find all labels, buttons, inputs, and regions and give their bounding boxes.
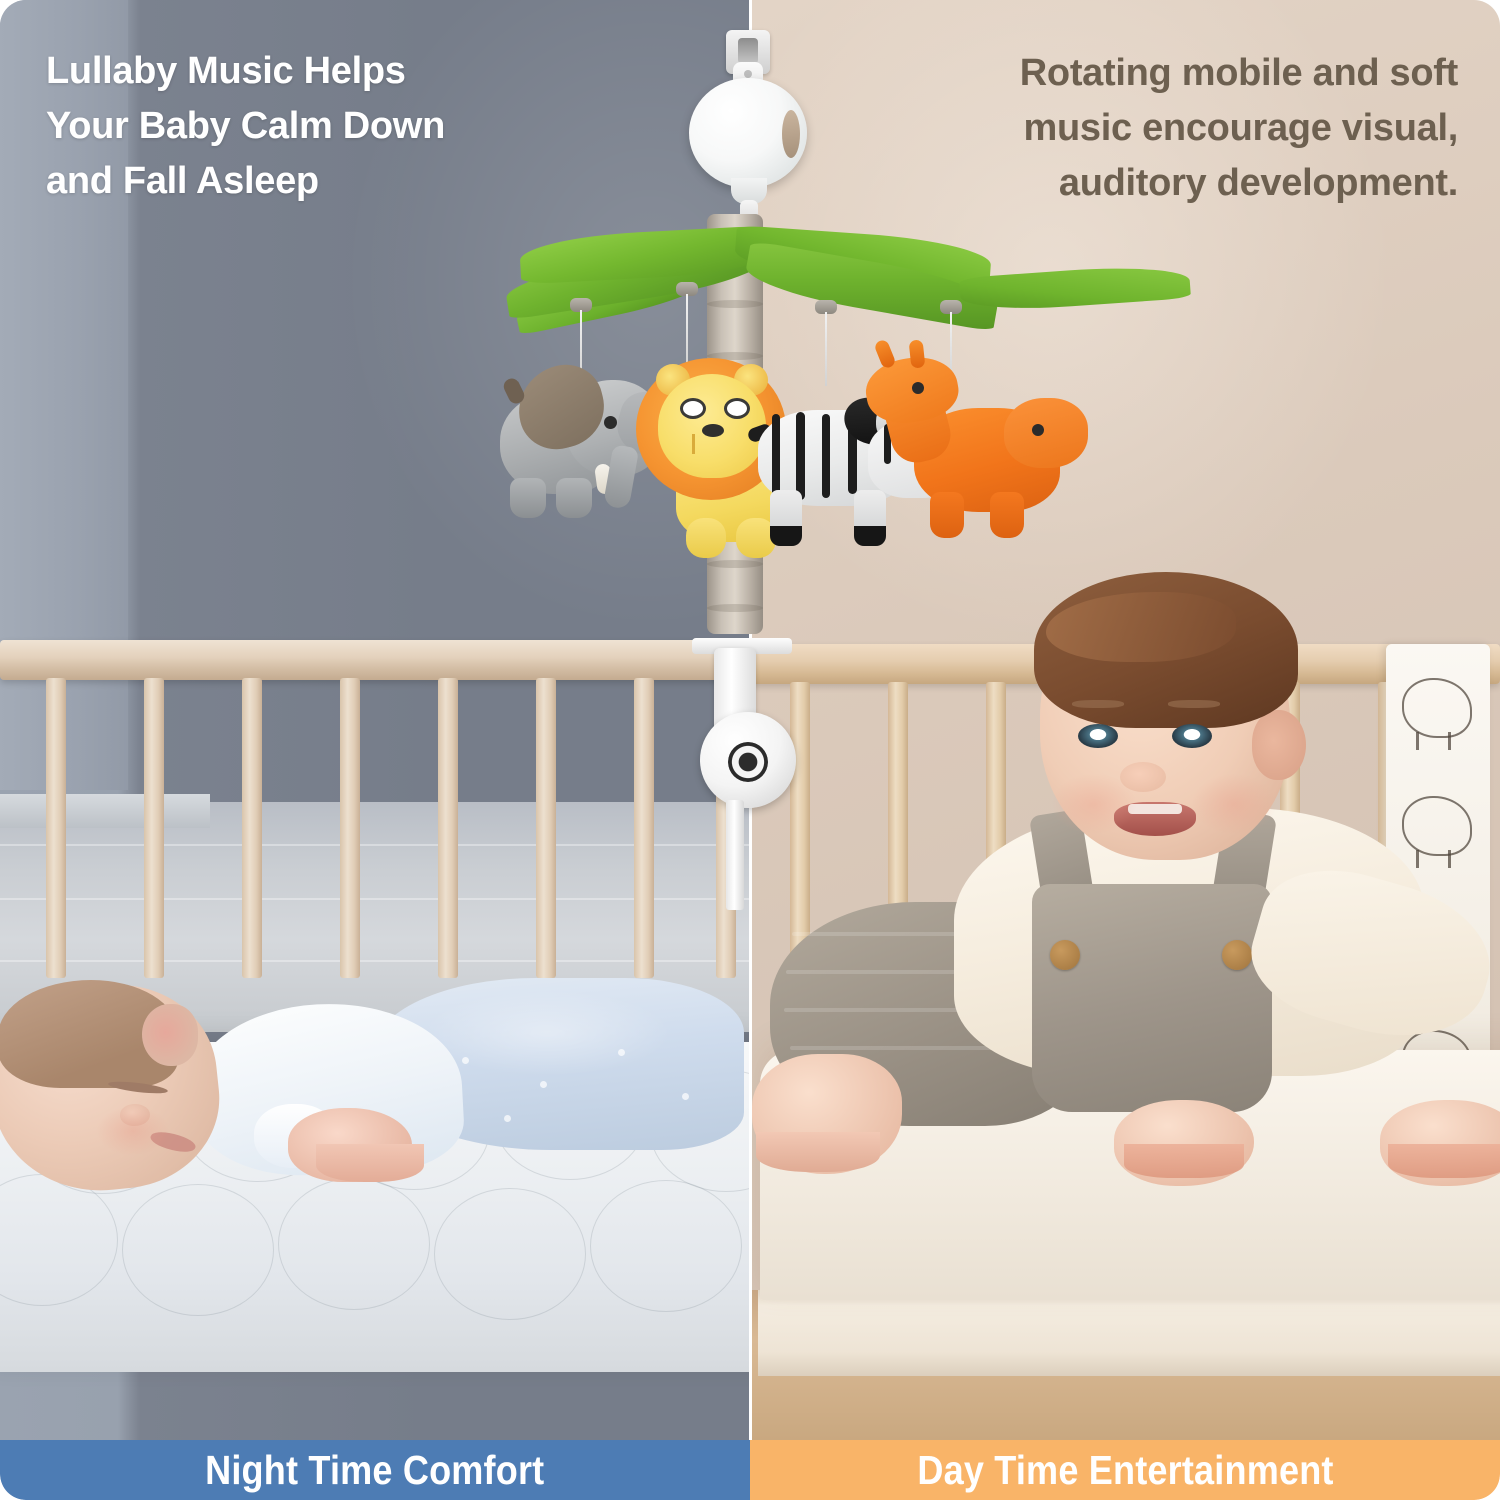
heading-night-time: Lullaby Music Helps Your Baby Calm Down … [46, 44, 606, 209]
mattress-right-side [758, 1290, 1500, 1376]
baseboard-left [0, 794, 210, 828]
banner-day-time-label: Day Time Entertainment [917, 1447, 1333, 1494]
crawling-toddler [784, 584, 1484, 1204]
crib-rail-left [0, 640, 750, 680]
panel-day-time [750, 0, 1500, 1440]
banner-day-time: Day Time Entertainment [750, 1440, 1500, 1500]
heading-day-time: Rotating mobile and soft music encourage… [898, 46, 1458, 211]
banner-night-time: Night Time Comfort [0, 1440, 750, 1500]
product-image: Lullaby Music Helps Your Baby Calm Down … [0, 0, 1500, 1500]
panel-night-time [0, 0, 750, 1440]
banner-night-time-label: Night Time Comfort [205, 1447, 544, 1494]
sleeping-baby [0, 954, 732, 1184]
panel-divider [749, 0, 752, 1440]
